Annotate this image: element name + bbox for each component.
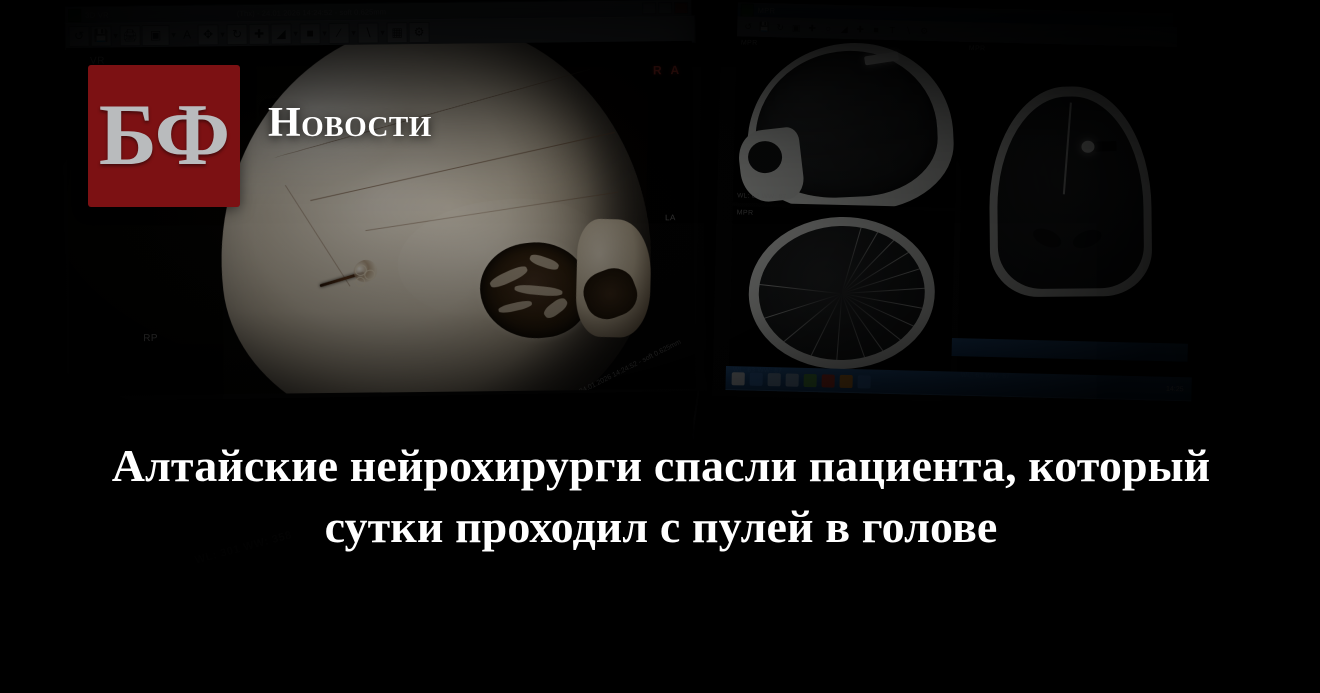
angle-icon[interactable]: ∖ <box>901 23 915 37</box>
film-icon[interactable]: ▣ <box>141 24 169 45</box>
dropdown-icon[interactable]: ▾ <box>112 26 118 45</box>
vr-study-info: (Thx) - 24.01.2026 14:24:52 - soft 0.625… <box>237 7 386 18</box>
keyboard-led-red <box>1143 609 1150 615</box>
keyboard-key <box>941 608 965 628</box>
bone-fragment <box>542 296 570 321</box>
keyboard-key <box>964 554 988 574</box>
orientation-marker-right-posterior: RP <box>143 333 158 344</box>
bone-fragment <box>514 284 563 297</box>
orientation-marker-right-anterior: R A <box>653 63 682 77</box>
ct-panel-coronal[interactable]: MPR WL: 63 WW: 87 <box>957 42 1173 387</box>
reset-icon[interactable]: ↺ <box>68 25 89 46</box>
keyboard-key <box>904 596 928 616</box>
rotate-icon[interactable]: ↻ <box>226 23 247 44</box>
window-level-readout: WL: 63 WW: 87 <box>737 192 786 200</box>
close-icon[interactable] <box>674 2 688 14</box>
panel-label: MPR <box>737 209 754 216</box>
keyboard-key <box>914 570 938 590</box>
pan-icon[interactable]: ✥ <box>197 24 218 45</box>
window-level-icon[interactable]: ■ <box>299 23 320 44</box>
rotate-icon[interactable]: ↻ <box>773 20 787 34</box>
taskbar-app-icon[interactable] <box>840 374 853 387</box>
measure-icon[interactable]: ◢ <box>837 22 851 36</box>
keyboard-key <box>953 627 977 647</box>
maximize-icon[interactable] <box>658 2 672 14</box>
taskbar-app-icon[interactable] <box>858 375 871 388</box>
bullet-entry-wound <box>316 251 389 301</box>
keyboard-key <box>966 600 990 620</box>
layout-icon[interactable]: ▦ <box>386 22 407 43</box>
news-card: 3D VR (Thx) - 24.01.2026 14:24:52 - soft… <box>0 0 1320 693</box>
measure-icon[interactable]: ◢ <box>270 23 291 44</box>
keyboard-key <box>939 562 963 582</box>
taskbar-clock[interactable]: 14:25 <box>1166 385 1184 392</box>
metal-streak-artifact <box>842 293 927 321</box>
bone-fragment <box>498 299 533 314</box>
film-icon[interactable]: ▣ <box>789 21 803 35</box>
keyboard-key <box>1003 566 1027 586</box>
settings-icon[interactable]: ⚙ <box>408 21 429 42</box>
taskbar-app-icon[interactable] <box>822 374 835 387</box>
minimize-icon[interactable] <box>642 2 656 14</box>
panel-label: MPR <box>969 45 986 52</box>
site-logo-text: БФ <box>99 92 229 180</box>
keyboard-key <box>978 573 1002 593</box>
keyboard-key <box>1028 604 1052 624</box>
keyboard-key <box>916 615 940 635</box>
zoom-icon[interactable]: ✚ <box>248 23 269 44</box>
circle-roi-icon[interactable]: ○ <box>821 21 835 35</box>
keyboard-key <box>890 577 914 597</box>
text-annotation-icon[interactable]: T <box>885 23 899 37</box>
keyboard-key <box>928 635 952 655</box>
keyboard-key <box>1040 577 1064 597</box>
start-button-icon[interactable] <box>732 372 745 385</box>
metal-streak-artifact <box>757 276 842 294</box>
app-icon <box>741 3 754 16</box>
taskbar-app-icon[interactable] <box>768 373 781 386</box>
save-icon[interactable]: 💾 <box>757 20 771 34</box>
bullet-metal-density <box>1090 141 1116 152</box>
metal-streak-artifact <box>841 224 926 294</box>
taskbar-app-icon[interactable] <box>804 373 817 386</box>
crosshair-icon[interactable]: ✚ <box>805 21 819 35</box>
section-kicker[interactable]: Новости <box>268 99 432 147</box>
taskbar-app-icon[interactable] <box>750 372 763 385</box>
keyboard-key <box>1028 558 1052 578</box>
ct-panel-sagittal[interactable]: MPR WL: 63 WW: 87 <box>733 36 959 207</box>
panel-label: MPR <box>741 39 758 46</box>
vr-window-title: 3D VR <box>85 10 109 19</box>
dropdown-icon[interactable]: ▾ <box>379 23 385 42</box>
dropdown-icon[interactable]: ▾ <box>170 25 176 44</box>
keyboard-key <box>978 619 1002 639</box>
article-headline[interactable]: Алтайские нейрохирурги спасли пациента, … <box>86 435 1236 557</box>
site-logo[interactable]: БФ <box>88 65 240 207</box>
keyboard-key <box>1052 597 1076 617</box>
angle-icon[interactable]: ∖ <box>357 22 378 43</box>
zoom-icon[interactable]: ✚ <box>853 22 867 36</box>
taskbar-app-icon[interactable] <box>786 373 799 386</box>
app-icon <box>68 8 81 21</box>
metal-streak-artifact <box>841 224 926 294</box>
orientation-marker-left-anterior: LA <box>665 213 676 222</box>
mpr-window-title: MPR <box>758 5 776 14</box>
keyboard-key <box>1015 585 1039 605</box>
dropdown-icon[interactable]: ▾ <box>292 24 298 43</box>
keyboard-key <box>929 588 953 608</box>
ct-panel-axial[interactable]: MPR <box>729 206 955 381</box>
text-annotation-icon[interactable]: A <box>177 25 196 44</box>
dropdown-icon[interactable]: ▾ <box>219 25 225 44</box>
keyboard-key <box>1077 589 1101 609</box>
window-controls[interactable] <box>642 2 688 15</box>
keyboard-key <box>1090 562 1114 582</box>
dropdown-icon[interactable]: ▾ <box>321 24 327 43</box>
keyboard-key <box>953 581 977 601</box>
save-icon[interactable]: 💾 <box>90 25 111 46</box>
ruler-icon[interactable]: ∕ <box>328 22 349 43</box>
mpr-viewport-grid: MPR WL: 63 WW: 87 MPR <box>729 36 1173 377</box>
bone-fragment <box>528 252 560 271</box>
settings-icon[interactable]: ⚙ <box>917 24 931 38</box>
reset-icon[interactable]: ↺ <box>741 19 755 33</box>
skull-3d-rendering <box>195 41 671 396</box>
keyboard-key <box>990 592 1014 612</box>
dropdown-icon[interactable]: ▾ <box>350 23 356 42</box>
keyboard-key <box>1003 612 1027 632</box>
window-level-icon[interactable]: ■ <box>869 23 883 37</box>
metal-streak-artifact <box>841 224 918 294</box>
print-icon[interactable]: 🖨 <box>119 25 140 46</box>
keyboard-key <box>1065 570 1089 590</box>
